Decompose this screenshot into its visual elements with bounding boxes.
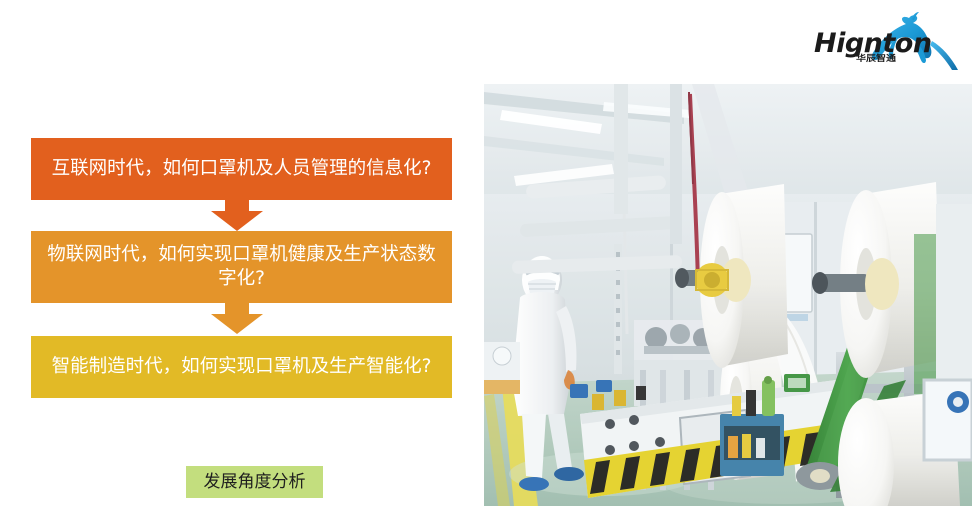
logo-wordmark: Hignton	[814, 30, 932, 57]
mask-machine-cleanroom-photo	[484, 84, 972, 506]
flow-arrow-1	[208, 198, 266, 232]
analysis-perspective-label: 发展角度分析	[186, 466, 323, 498]
hignton-logo: Hignton 华辰智通	[812, 12, 960, 74]
flow-box-internet-era[interactable]: 互联网时代，如何口罩机及人员管理的信息化?	[31, 138, 452, 200]
flow-box-smart-manufacturing-era[interactable]: 智能制造时代，如何实现口罩机及生产智能化?	[31, 336, 452, 398]
slide-canvas: Hignton 华辰智通 互联网时代，如何口罩机及人员管理的信息化? 物联网时代…	[0, 0, 976, 506]
flow-box-iot-era[interactable]: 物联网时代，如何实现口罩机健康及生产状态数字化?	[31, 231, 452, 303]
logo-chinese-name: 华辰智通	[856, 55, 896, 64]
flow-arrow-2	[208, 301, 266, 335]
